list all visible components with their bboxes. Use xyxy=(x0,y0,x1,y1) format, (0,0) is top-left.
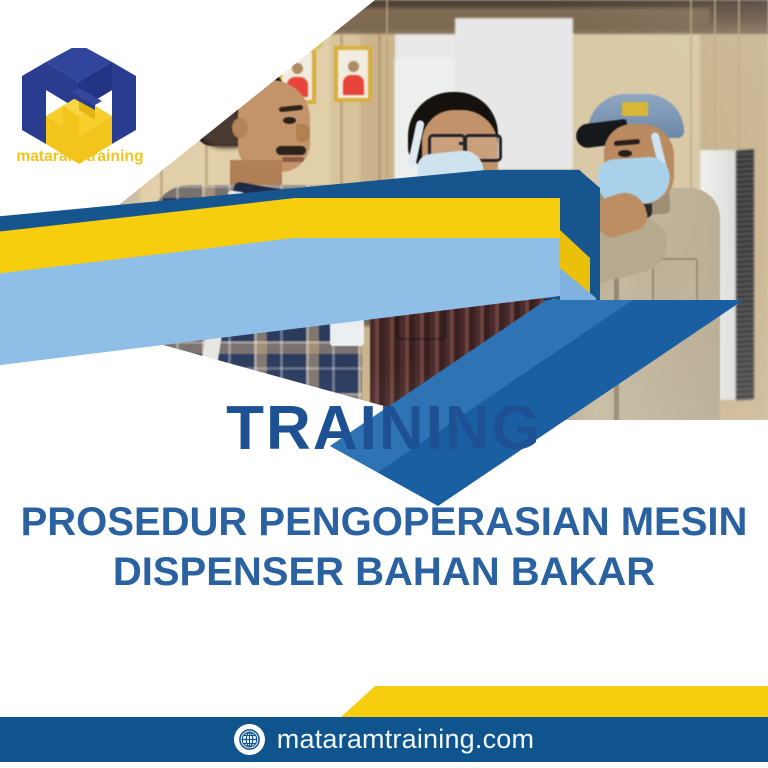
hanging-wire xyxy=(690,0,692,196)
flipchart-edge xyxy=(736,149,754,400)
page-title: TRAINING xyxy=(0,398,768,460)
logo-wordmark: mataram training xyxy=(12,148,148,166)
page-subtitle-line-2: DISPENSER BAHAN BAKAR xyxy=(10,548,758,598)
page-subtitle: PROSEDUR PENGOPERASIAN MESIN DISPENSER B… xyxy=(0,498,768,597)
wall-portrait xyxy=(334,46,372,102)
page-subtitle-line-1: PROSEDUR PENGOPERASIAN MESIN xyxy=(10,498,758,548)
footer-bar: mataramtraining.com xyxy=(0,717,768,762)
footer-yellow-accent xyxy=(340,686,768,718)
footer-website-url[interactable]: mataramtraining.com xyxy=(277,724,534,755)
hanging-wire xyxy=(386,0,388,178)
poster-canvas: mataram training TRAINING PROSEDUR PENGO… xyxy=(0,0,768,768)
globe-icon xyxy=(234,724,265,755)
